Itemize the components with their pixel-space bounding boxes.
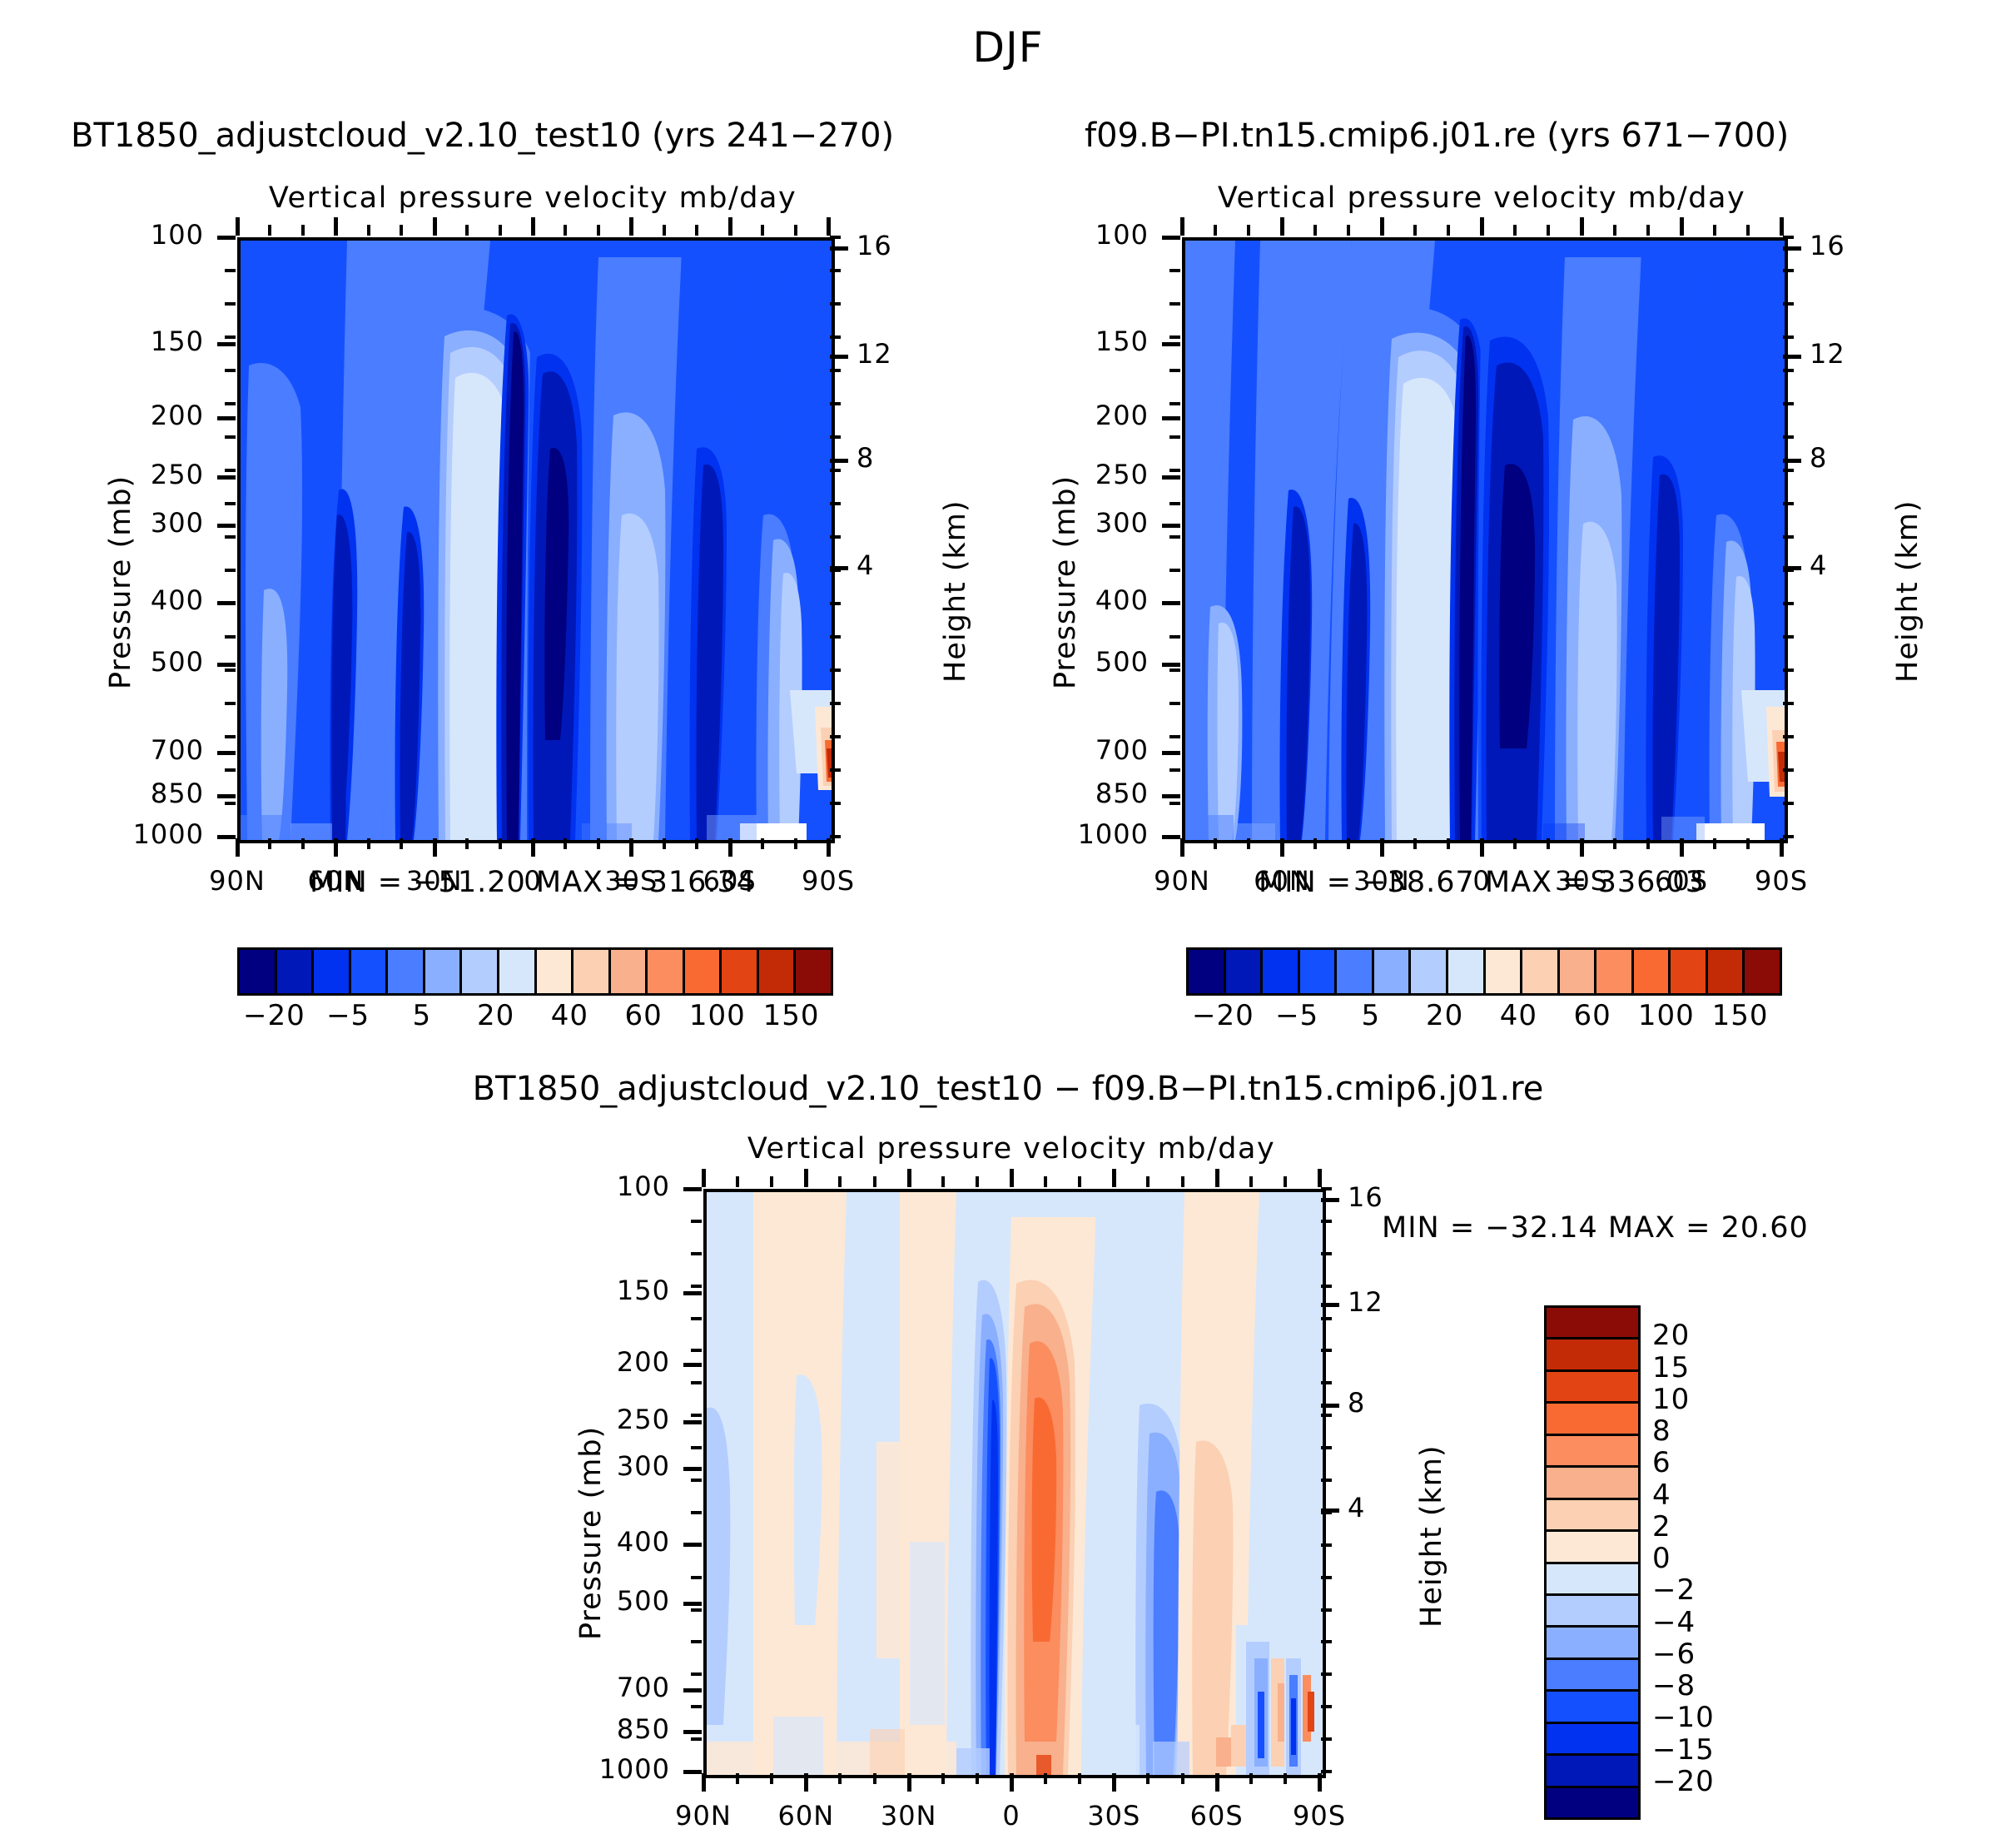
pressure-minor-tick xyxy=(1169,369,1180,372)
latitude-minor-tick-top xyxy=(794,225,797,236)
colorbar-segment xyxy=(1547,1404,1638,1435)
colorbar-tick-label: 20 xyxy=(1426,999,1463,1032)
pressure-minor-tick xyxy=(691,1381,702,1384)
height-tick-label: 16 xyxy=(1348,1181,1383,1213)
pressure-tick-label: 850 xyxy=(151,778,204,809)
latitude-tick-top xyxy=(1780,217,1784,236)
latitude-minor-tick-top xyxy=(1112,1176,1115,1187)
pressure-minor-tick xyxy=(225,335,236,339)
colorbar-tick-label: 150 xyxy=(763,999,820,1032)
height-tick-label: 12 xyxy=(857,338,892,370)
latitude-minor-tick-top xyxy=(1313,225,1317,236)
latitude-minor-tick-top xyxy=(1480,225,1483,236)
latitude-minor-tick-top xyxy=(663,225,666,236)
pressure-minor-tick xyxy=(1169,802,1180,805)
pressure-tick-label: 1000 xyxy=(599,1753,670,1785)
pressure-tick xyxy=(683,1602,702,1606)
colorbar-segment xyxy=(1547,1628,1638,1659)
pressure-tick-label: 500 xyxy=(151,646,204,678)
colorbar-tick-label: 10 xyxy=(1652,1383,1690,1416)
colorbar-tick-label: 5 xyxy=(1362,999,1381,1032)
pressure-tick-label: 250 xyxy=(151,459,204,490)
colorbar-tick-label: −4 xyxy=(1652,1606,1696,1639)
latitude-minor-tick-top xyxy=(1413,225,1417,236)
latitude-minor-tick-top xyxy=(838,1176,842,1187)
latitude-minor-tick-top xyxy=(1078,1176,1081,1187)
pressure-tick-label: 200 xyxy=(1095,400,1149,431)
pressure-minor-tick xyxy=(691,1252,702,1255)
colorbar-tick-label: 20 xyxy=(477,999,514,1032)
pressure-tick-label: 400 xyxy=(1095,584,1149,616)
latitude-minor-tick-top xyxy=(564,225,567,236)
colorbar-tick-label: 60 xyxy=(624,999,662,1032)
pressure-tick-label: 850 xyxy=(1095,778,1149,809)
colorbar-segment xyxy=(1189,950,1226,993)
right-panel-minmax: MIN = −38.67 MAX = 336.03 xyxy=(1182,866,1781,899)
colorbar-segment xyxy=(1411,950,1448,993)
latitude-minor-tick-top xyxy=(597,225,600,236)
latitude-minor-tick-top xyxy=(976,1176,979,1187)
colorbar-segment xyxy=(1300,950,1338,993)
right-colorbar-labels: −20−55204060100150 xyxy=(1186,999,1777,1037)
colorbar-tick-label: −8 xyxy=(1652,1669,1696,1702)
pressure-minor-tick xyxy=(225,535,236,539)
latitude-tick-top xyxy=(804,1169,808,1187)
colorbar-segment xyxy=(1547,1596,1638,1628)
pressure-minor-tick xyxy=(225,635,236,639)
latitude-tick-top xyxy=(1480,217,1484,236)
pressure-minor-tick xyxy=(225,369,236,372)
colorbar-segment xyxy=(648,950,685,993)
diff-panel-contour-field xyxy=(707,1192,1323,1775)
latitude-minor-tick-top xyxy=(236,225,239,236)
pressure-minor-tick xyxy=(225,302,236,306)
pressure-minor-tick xyxy=(1169,469,1180,472)
pressure-tick xyxy=(217,524,236,528)
latitude-minor-tick-top xyxy=(1547,225,1550,236)
latitude-minor-tick-top xyxy=(268,225,271,236)
pressure-tick xyxy=(1162,475,1180,480)
pressure-minor-tick xyxy=(1169,835,1180,838)
pressure-tick xyxy=(1162,236,1180,240)
pressure-minor-tick xyxy=(691,1414,702,1417)
pressure-tick-label: 850 xyxy=(617,1713,670,1745)
height-tick-label: 8 xyxy=(857,442,874,474)
pressure-minor-tick xyxy=(691,1511,702,1514)
pressure-minor-tick xyxy=(225,402,236,405)
latitude-tick-label: 60N xyxy=(778,1800,835,1832)
latitude-minor-tick-top xyxy=(1044,1176,1047,1187)
colorbar-segment xyxy=(1547,1692,1638,1723)
height-tick-label: 8 xyxy=(1810,442,1827,474)
pressure-tick-label: 700 xyxy=(151,734,204,766)
latitude-tick-top xyxy=(334,217,338,236)
colorbar-tick-label: −2 xyxy=(1652,1573,1696,1607)
pressure-tick xyxy=(1162,835,1180,839)
height-tick-label: 16 xyxy=(857,230,892,261)
right-height-axis-title: Height (km) xyxy=(1891,683,2016,716)
latitude-tick-top xyxy=(1280,217,1284,236)
latitude-minor-tick-top xyxy=(1180,225,1184,236)
latitude-tick-top xyxy=(1380,217,1384,236)
pressure-tick xyxy=(217,794,236,798)
colorbar-tick-label: −20 xyxy=(1192,999,1254,1032)
pressure-minor-tick xyxy=(225,835,236,838)
pressure-tick xyxy=(217,416,236,420)
pressure-minor-tick xyxy=(225,236,236,239)
right-colorbar xyxy=(1186,947,1782,996)
left-colorbar-labels: −20−55204060100150 xyxy=(237,999,828,1037)
latitude-minor-tick-top xyxy=(499,225,502,236)
latitude-minor-tick-top xyxy=(1214,225,1217,236)
pressure-tick xyxy=(1162,601,1180,605)
latitude-minor-tick-top xyxy=(702,1176,705,1187)
right-panel-plot xyxy=(1182,237,1788,843)
colorbar-segment xyxy=(1745,950,1780,993)
pressure-tick xyxy=(683,1543,702,1547)
latitude-minor-tick-top xyxy=(367,225,370,236)
pressure-minor-tick xyxy=(225,768,236,772)
diff-panel-minmax: MIN = −32.14 MAX = 20.60 xyxy=(1382,1211,1809,1245)
latitude-tick-label: 90N xyxy=(675,1800,732,1832)
latitude-tick-label: 30S xyxy=(1087,1800,1140,1832)
colorbar-tick-label: −5 xyxy=(326,999,370,1032)
pressure-minor-tick xyxy=(225,802,236,805)
colorbar-tick-label: 15 xyxy=(1652,1351,1690,1384)
pressure-tick-label: 300 xyxy=(617,1450,670,1482)
pressure-tick-label: 150 xyxy=(151,326,204,357)
pressure-minor-tick xyxy=(1169,269,1180,272)
left-panel-plot xyxy=(237,237,835,843)
diff-colorbar xyxy=(1544,1305,1641,1820)
colorbar-segment xyxy=(1547,1660,1638,1692)
colorbar-segment xyxy=(499,950,537,993)
latitude-tick-top xyxy=(236,217,240,236)
latitude-minor-tick-top xyxy=(1146,1176,1150,1187)
latitude-minor-tick-top xyxy=(907,1176,911,1187)
pressure-tick-label: 100 xyxy=(1095,219,1149,251)
pressure-minor-tick xyxy=(1169,768,1180,772)
height-tick-label: 4 xyxy=(1810,549,1827,581)
latitude-minor-tick-top xyxy=(1680,225,1683,236)
pressure-minor-tick xyxy=(691,1187,702,1190)
colorbar-tick-label: 40 xyxy=(551,999,588,1032)
colorbar-segment xyxy=(1671,950,1708,993)
latitude-minor-tick-top xyxy=(1613,225,1616,236)
colorbar-segment xyxy=(1547,1436,1638,1468)
pressure-tick-label: 300 xyxy=(151,507,204,539)
latitude-tick-label: 30N xyxy=(881,1800,937,1832)
latitude-minor-tick-top xyxy=(1010,1176,1013,1187)
latitude-minor-tick-top xyxy=(400,225,403,236)
colorbar-tick-label: −10 xyxy=(1652,1701,1715,1734)
colorbar-segment xyxy=(722,950,759,993)
colorbar-segment xyxy=(1547,1756,1638,1787)
pressure-minor-tick xyxy=(225,569,236,572)
colorbar-tick-label: 20 xyxy=(1652,1319,1690,1352)
latitude-minor-tick-top xyxy=(1646,225,1650,236)
latitude-tick-top xyxy=(1112,1169,1116,1187)
colorbar-tick-label: 100 xyxy=(1638,999,1695,1032)
latitude-tick-top xyxy=(702,1169,706,1187)
figure-season-title: DJF xyxy=(0,23,2016,72)
latitude-minor-tick-top xyxy=(1247,225,1250,236)
latitude-minor-tick-top xyxy=(433,225,436,236)
pressure-tick-label: 150 xyxy=(617,1275,670,1306)
latitude-minor-tick-top xyxy=(1284,1176,1287,1187)
latitude-minor-tick-top xyxy=(1580,225,1583,236)
colorbar-segment xyxy=(388,950,425,993)
pressure-minor-tick xyxy=(1169,602,1180,605)
latitude-minor-tick-top xyxy=(531,225,534,236)
pressure-tick xyxy=(217,342,236,346)
latitude-minor-tick-top xyxy=(1380,225,1383,236)
left-panel-contour-field xyxy=(241,241,832,840)
pressure-minor-tick xyxy=(691,1317,702,1320)
pressure-tick-label: 1000 xyxy=(1078,818,1149,850)
latitude-minor-tick-top xyxy=(728,225,732,236)
latitude-tick-top xyxy=(531,217,535,236)
colorbar-segment xyxy=(314,950,351,993)
latitude-minor-tick-top xyxy=(736,1176,739,1187)
latitude-minor-tick-top xyxy=(465,225,469,236)
latitude-minor-tick-top xyxy=(1746,225,1750,236)
pressure-minor-tick xyxy=(1169,435,1180,439)
colorbar-tick-label: −5 xyxy=(1275,999,1318,1032)
latitude-minor-tick-top xyxy=(1318,1176,1321,1187)
latitude-minor-tick-top xyxy=(334,225,337,236)
pressure-minor-tick xyxy=(1169,535,1180,539)
pressure-tick-label: 200 xyxy=(617,1346,670,1378)
pressure-tick xyxy=(1162,416,1180,420)
pressure-minor-tick xyxy=(225,435,236,439)
pressure-minor-tick xyxy=(691,1220,702,1223)
colorbar-tick-label: −15 xyxy=(1652,1733,1715,1767)
latitude-tick-top xyxy=(728,217,732,236)
colorbar-tick-label: −20 xyxy=(1652,1765,1715,1798)
pressure-minor-tick xyxy=(1169,735,1180,738)
colorbar-segment xyxy=(462,950,499,993)
latitude-minor-tick-top xyxy=(873,1176,876,1187)
latitude-minor-tick-top xyxy=(1347,225,1350,236)
pressure-tick xyxy=(683,1770,702,1774)
colorbar-segment xyxy=(1226,950,1264,993)
pressure-minor-tick xyxy=(691,1285,702,1288)
colorbar-segment xyxy=(1560,950,1597,993)
left-panel-title: BT1850_adjustcloud_v2.10_test10 (yrs 241… xyxy=(71,117,894,155)
colorbar-tick-label: 60 xyxy=(1573,999,1611,1032)
pressure-minor-tick xyxy=(225,602,236,605)
pressure-minor-tick xyxy=(1169,302,1180,306)
latitude-minor-tick-top xyxy=(1249,1176,1253,1187)
pressure-minor-tick xyxy=(225,269,236,272)
latitude-tick-top xyxy=(1318,1169,1322,1187)
latitude-tick-label: 60S xyxy=(1190,1800,1244,1832)
pressure-minor-tick xyxy=(1169,569,1180,572)
colorbar-segment xyxy=(1547,1339,1638,1371)
pressure-minor-tick xyxy=(1169,668,1180,672)
right-panel-variable-label: Vertical pressure velocity mb/day xyxy=(1182,181,1781,215)
latitude-minor-tick-top xyxy=(1215,1176,1219,1187)
pressure-tick xyxy=(217,601,236,605)
latitude-tick-label: 0 xyxy=(1002,1800,1020,1832)
diff-panel-plot xyxy=(703,1189,1326,1778)
pressure-tick-label: 250 xyxy=(617,1404,670,1435)
pressure-tick xyxy=(683,1291,702,1295)
right-panel-title: f09.B−PI.tn15.cmip6.j01.re (yrs 671−700) xyxy=(1085,117,1789,155)
colorbar-segment xyxy=(1547,1468,1638,1499)
colorbar-tick-label: 8 xyxy=(1652,1414,1671,1448)
colorbar-segment xyxy=(611,950,648,993)
pressure-tick xyxy=(1162,751,1180,755)
colorbar-segment xyxy=(1486,950,1523,993)
pressure-tick-label: 1000 xyxy=(133,818,204,850)
colorbar-segment xyxy=(685,950,722,993)
right-pressure-axis-title: Pressure (mb) xyxy=(1049,689,1263,723)
pressure-minor-tick xyxy=(691,1543,702,1547)
left-pressure-axis-title: Pressure (mb) xyxy=(104,689,318,723)
latitude-tick-top xyxy=(827,217,831,236)
pressure-tick xyxy=(1162,524,1180,528)
pressure-tick-label: 100 xyxy=(617,1170,670,1202)
colorbar-tick-label: −20 xyxy=(243,999,305,1032)
colorbar-segment xyxy=(1448,950,1486,993)
latitude-minor-tick-top xyxy=(695,225,698,236)
pressure-tick xyxy=(683,1187,702,1191)
latitude-tick-top xyxy=(629,217,633,236)
pressure-minor-tick xyxy=(1169,635,1180,639)
pressure-tick-label: 150 xyxy=(1095,326,1149,357)
colorbar-tick-label: 0 xyxy=(1652,1542,1671,1575)
pressure-tick xyxy=(1162,663,1180,667)
latitude-minor-tick-top xyxy=(770,1176,773,1187)
pressure-tick-label: 500 xyxy=(617,1585,670,1617)
pressure-tick xyxy=(683,1467,702,1471)
latitude-tick-label: 90S xyxy=(1293,1800,1346,1832)
pressure-tick-label: 300 xyxy=(1095,507,1149,539)
latitude-minor-tick-top xyxy=(1780,225,1783,236)
pressure-minor-tick xyxy=(691,1737,702,1741)
height-tick-label: 16 xyxy=(1810,230,1845,261)
pressure-minor-tick xyxy=(691,1608,702,1612)
pressure-tick-label: 700 xyxy=(1095,734,1149,766)
latitude-minor-tick-top xyxy=(941,1176,945,1187)
pressure-minor-tick xyxy=(691,1705,702,1708)
pressure-tick xyxy=(683,1688,702,1692)
latitude-minor-tick-top xyxy=(1713,225,1716,236)
pressure-tick xyxy=(217,835,236,839)
colorbar-segment xyxy=(1263,950,1300,993)
colorbar-segment xyxy=(1708,950,1745,993)
colorbar-segment xyxy=(1596,950,1634,993)
latitude-minor-tick-top xyxy=(827,225,830,236)
colorbar-segment xyxy=(1547,1308,1638,1339)
pressure-minor-tick xyxy=(225,668,236,672)
diff-colorbar-labels: 20151086420−2−4−6−8−10−15−20 xyxy=(1652,1305,1785,1815)
right-panel-contour-field xyxy=(1185,241,1785,840)
pressure-tick-label: 200 xyxy=(151,400,204,431)
height-tick-label: 4 xyxy=(1348,1492,1365,1523)
left-panel-variable-label: Vertical pressure velocity mb/day xyxy=(237,181,828,215)
pressure-tick xyxy=(1162,342,1180,346)
colorbar-segment xyxy=(1374,950,1412,993)
colorbar-segment xyxy=(1547,1500,1638,1532)
latitude-minor-tick-top xyxy=(761,225,764,236)
colorbar-tick-label: 150 xyxy=(1712,999,1769,1032)
latitude-minor-tick-top xyxy=(1280,225,1284,236)
colorbar-segment xyxy=(1547,1788,1638,1817)
latitude-tick-top xyxy=(1180,217,1184,236)
colorbar-segment xyxy=(1522,950,1560,993)
left-panel-minmax: MIN = −51.20 MAX = 316.34 xyxy=(237,866,828,899)
latitude-minor-tick-top xyxy=(1513,225,1517,236)
latitude-minor-tick-top xyxy=(301,225,305,236)
colorbar-tick-label: 2 xyxy=(1652,1510,1671,1543)
colorbar-tick-label: −6 xyxy=(1652,1638,1696,1671)
pressure-minor-tick xyxy=(225,469,236,472)
colorbar-segment xyxy=(1547,1724,1638,1756)
colorbar-segment xyxy=(537,950,574,993)
pressure-minor-tick xyxy=(225,502,236,505)
pressure-minor-tick xyxy=(691,1479,702,1482)
pressure-tick-label: 250 xyxy=(1095,459,1149,490)
latitude-tick-top xyxy=(907,1169,911,1187)
height-tick-label: 8 xyxy=(1348,1387,1365,1419)
pressure-tick-label: 100 xyxy=(151,219,204,251)
diff-panel-variable-label: Vertical pressure velocity mb/day xyxy=(703,1132,1319,1166)
height-tick-label: 12 xyxy=(1810,338,1845,370)
colorbar-segment xyxy=(277,950,315,993)
latitude-tick-top xyxy=(1010,1169,1014,1187)
pressure-tick-label: 500 xyxy=(1095,646,1149,678)
height-tick-label: 12 xyxy=(1348,1286,1383,1318)
colorbar-segment xyxy=(1337,950,1374,993)
latitude-tick-top xyxy=(433,217,437,236)
latitude-minor-tick-top xyxy=(804,1176,807,1187)
diff-panel-title: BT1850_adjustcloud_v2.10_test10 − f09.B−… xyxy=(0,1070,2016,1108)
colorbar-segment xyxy=(351,950,389,993)
pressure-minor-tick xyxy=(1169,502,1180,505)
pressure-minor-tick xyxy=(1169,236,1180,239)
height-tick-label: 4 xyxy=(857,549,874,581)
pressure-minor-tick xyxy=(691,1576,702,1579)
colorbar-segment xyxy=(1547,1532,1638,1563)
pressure-minor-tick xyxy=(225,735,236,738)
colorbar-segment xyxy=(796,950,831,993)
colorbar-tick-label: 100 xyxy=(689,999,746,1032)
colorbar-segment xyxy=(759,950,797,993)
pressure-tick xyxy=(217,236,236,240)
pressure-tick xyxy=(1162,794,1180,798)
left-colorbar xyxy=(237,947,833,996)
pressure-minor-tick xyxy=(1169,402,1180,405)
latitude-minor-tick-top xyxy=(1447,225,1450,236)
colorbar-segment xyxy=(425,950,463,993)
latitude-tick-top xyxy=(1215,1169,1219,1187)
pressure-minor-tick xyxy=(691,1446,702,1449)
colorbar-segment xyxy=(240,950,277,993)
colorbar-segment xyxy=(1634,950,1671,993)
diff-pressure-axis-title: Pressure (mb) xyxy=(574,1640,788,1673)
pressure-tick-label: 400 xyxy=(151,584,204,616)
pressure-tick xyxy=(683,1420,702,1424)
colorbar-segment xyxy=(574,950,611,993)
colorbar-tick-label: 4 xyxy=(1652,1479,1671,1512)
colorbar-segment xyxy=(1547,1372,1638,1404)
latitude-minor-tick-top xyxy=(629,225,633,236)
latitude-minor-tick-top xyxy=(1181,1176,1184,1187)
colorbar-tick-label: 6 xyxy=(1652,1446,1671,1479)
